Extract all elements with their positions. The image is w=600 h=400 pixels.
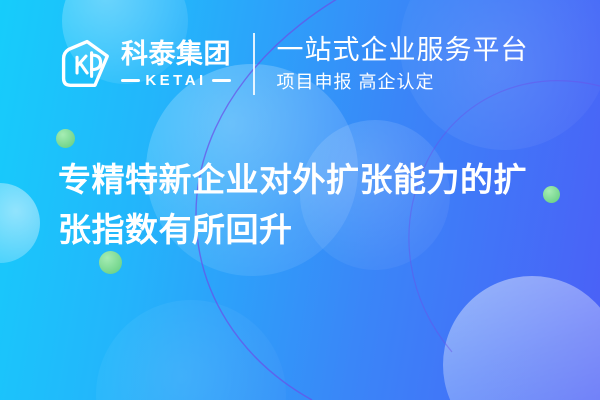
- tagline-main: 一站式企业服务平台: [277, 35, 529, 66]
- logo-company-cn: 科泰集团: [121, 41, 231, 68]
- accent-dot: [56, 129, 75, 148]
- soft-circle-bottom-right: [443, 276, 600, 400]
- logo-wordmark: 科泰集团 KETAI: [121, 41, 231, 88]
- brand-logo[interactable]: 科泰集团 KETAI: [58, 36, 231, 92]
- header-tagline: 一站式企业服务平台 项目申报 高企认定: [277, 35, 529, 93]
- banner-header: 科泰集团 KETAI 一站式企业服务平台 项目申报 高企认定: [0, 0, 600, 128]
- logo-rule-right: [212, 79, 231, 82]
- logo-en-row: KETAI: [121, 73, 231, 88]
- logo-company-en: KETAI: [145, 73, 206, 88]
- ketai-monogram-icon: [58, 36, 114, 92]
- logo-rule-left: [121, 79, 140, 82]
- promo-banner: 科泰集团 KETAI 一站式企业服务平台 项目申报 高企认定 专精特新企业对外扩…: [0, 0, 600, 400]
- header-divider: [253, 33, 255, 95]
- soft-circle-lower-left: [96, 300, 286, 400]
- tagline-sub: 项目申报 高企认定: [277, 72, 529, 93]
- soft-circle-left-edge: [0, 183, 40, 263]
- page-title: 专精特新企业对外扩张能力的扩张指数有所回升: [58, 155, 558, 255]
